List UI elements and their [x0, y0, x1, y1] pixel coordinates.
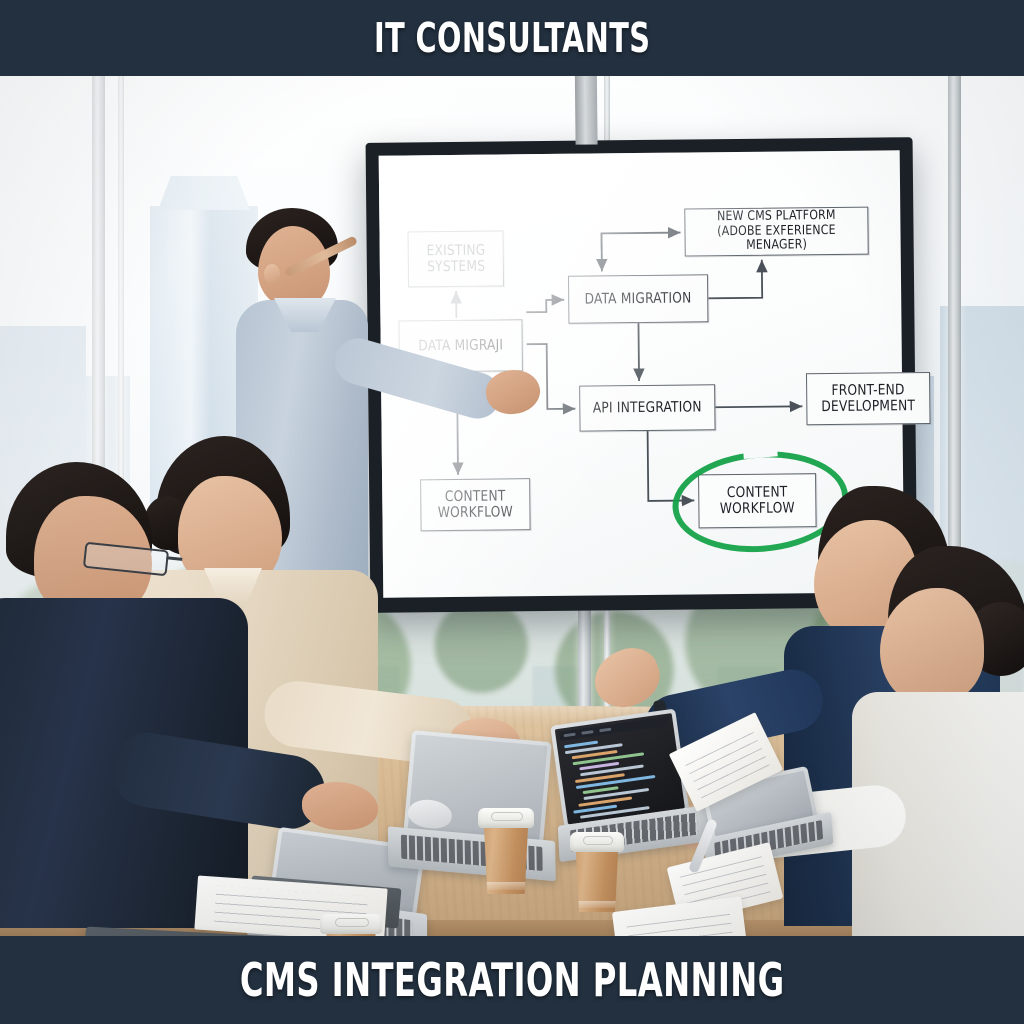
tab-label [599, 728, 611, 733]
coffee-cup[interactable] [322, 914, 380, 936]
ear [264, 264, 280, 284]
diagram-node-new-cms-platform[interactable]: NEW CMS PLATFORM (ADOBE EXFERIENCE MENAG… [684, 207, 868, 257]
cup-sleeve [481, 882, 531, 889]
cup-sleeve [573, 901, 621, 908]
cup-lid [478, 808, 534, 828]
diagram-node-frontend-development[interactable]: FRONT-END DEVELOPMENT [806, 372, 931, 425]
coffee-cup[interactable] [480, 808, 532, 894]
diagram-node-data-migration[interactable]: DATA MIGRATION [568, 274, 708, 323]
footer-banner: CMS INTEGRATION PLANNING [0, 936, 1024, 1024]
cup-body [480, 820, 532, 894]
diagram-node-api-integration[interactable]: API INTEGRATION [579, 384, 715, 431]
node-label-line2: (ADOBE EXFERIENCE MENAGER) [695, 223, 859, 254]
tab-label [581, 730, 593, 735]
node-label-line1: FRONT-END [821, 382, 915, 399]
node-label-line2: WORKFLOW [438, 504, 513, 521]
screenshot-canvas: IT CONSULTANTS [0, 0, 1024, 1024]
cup-lid [570, 832, 624, 852]
code-editor-screen[interactable] [555, 713, 685, 824]
footer-title: CMS INTEGRATION PLANNING [240, 953, 785, 1007]
node-label-line2: DEVELOPMENT [821, 398, 915, 415]
node-label: DATA MIGRATION [585, 290, 692, 307]
cup-lid [320, 914, 383, 934]
coffee-cup[interactable] [572, 832, 622, 912]
node-label: API INTEGRATION [593, 399, 702, 416]
cup-body [572, 844, 622, 912]
header-title: IT CONSULTANTS [374, 14, 650, 62]
tab-label [563, 733, 575, 738]
ruled-lines [626, 910, 735, 936]
meeting-photograph: EXISTING SYSTEMS DATA MIGRAJI DATA MIGRA… [0, 76, 1024, 936]
node-label-line1: CONTENT [438, 488, 513, 505]
head [880, 588, 984, 706]
header-banner: IT CONSULTANTS [0, 0, 1024, 76]
person-woman-white-blouse [848, 546, 1024, 936]
